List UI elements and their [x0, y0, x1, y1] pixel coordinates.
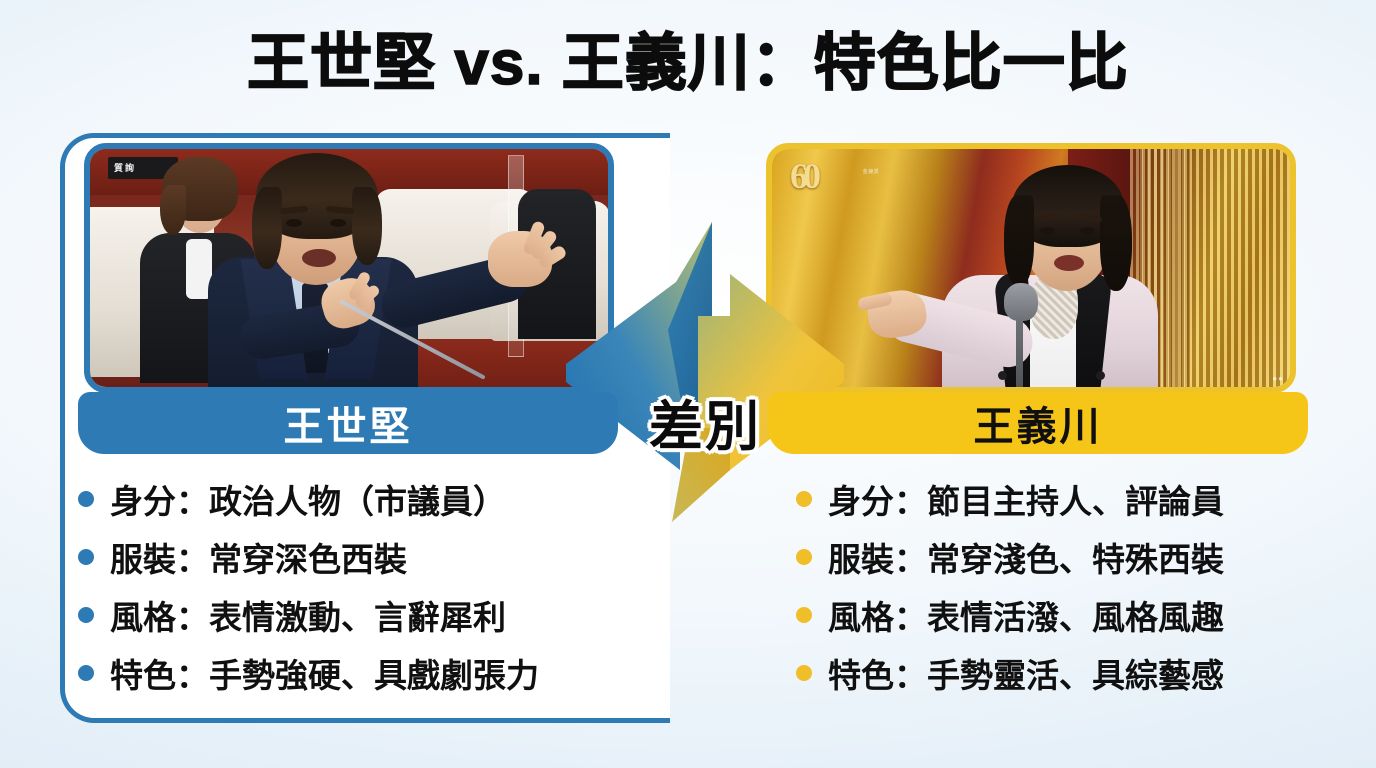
list-item: 風格：表情激動、言辭犀利 [78, 586, 658, 644]
infographic-canvas: 王世堅 vs. 王義川：特色比一比 質詢 [0, 0, 1376, 768]
name-right-text: 王義川 [974, 394, 1103, 452]
bullet-dot-icon [78, 665, 94, 681]
photo-frame-left: 質詢 [84, 143, 614, 393]
bullet-dot-icon [796, 549, 812, 565]
hair-side-left [1004, 195, 1034, 287]
bullet-dot-icon [78, 491, 94, 507]
smiling-mouth [1054, 255, 1084, 271]
bullet-dot-icon [796, 607, 812, 623]
hair-side-right [1100, 195, 1132, 291]
list-item-text: 服裝：常穿淺色、特殊西裝 [828, 533, 1224, 581]
bullet-dot-icon [78, 607, 94, 623]
list-item: 特色：手勢強硬、具戲劇張力 [78, 644, 658, 702]
microphone-stem [1016, 317, 1023, 387]
photo-frame-right: 60 金鐘獎 [766, 143, 1296, 393]
list-item-text: 服裝：常穿深色西裝 [110, 533, 407, 581]
list-item: 身分：節目主持人、評論員 [796, 470, 1376, 528]
nameplate-text: 質詢 [114, 162, 136, 174]
hair-side-left [252, 187, 282, 269]
microphone-head [1004, 283, 1038, 321]
page-title: 王世堅 vs. 王義川：特色比一比 [0, 26, 1376, 102]
wang-yi-chuan-photo: 60 金鐘獎 [772, 149, 1290, 387]
name-band-left: 王世堅 [78, 392, 618, 454]
name-left-text: 王世堅 [284, 394, 413, 452]
list-item: 風格：表情活潑、風格風趣 [796, 586, 1376, 644]
bullet-list-left: 身分：政治人物（市議員） 服裝：常穿深色西裝 風格：表情激動、言辭犀利 特色：手… [78, 470, 658, 702]
list-item: 服裝：常穿深色西裝 [78, 528, 658, 586]
list-item-text: 風格：表情激動、言辭犀利 [110, 591, 506, 639]
list-item-text: 身分：節目主持人、評論員 [828, 475, 1224, 523]
list-item-text: 特色：手勢強硬、具戲劇張力 [110, 649, 539, 697]
jacket-button-left [998, 371, 1007, 380]
list-item: 服裝：常穿淺色、特殊西裝 [796, 528, 1376, 586]
open-mouth [302, 249, 336, 267]
award-logo-sub: 金鐘獎 [846, 169, 896, 176]
wang-shih-chien-photo: 質詢 [90, 149, 608, 387]
watermark: ●● [1272, 374, 1284, 383]
list-item-text: 風格：表情活潑、風格風趣 [828, 591, 1224, 639]
list-item-text: 身分：政治人物（市議員） [110, 475, 506, 523]
list-item: 特色：手勢靈活、具綜藝感 [796, 644, 1376, 702]
jacket-button-right [1096, 371, 1105, 380]
name-band-right: 王義川 [768, 392, 1308, 454]
bullet-list-right: 身分：節目主持人、評論員 服裝：常穿淺色、特殊西裝 風格：表情活潑、風格風趣 特… [796, 470, 1376, 702]
arrow-blue-accent [668, 222, 712, 406]
hair-side-right [352, 187, 382, 265]
award-logo: 60 [790, 155, 816, 197]
bullet-dot-icon [796, 665, 812, 681]
list-item-text: 特色：手勢靈活、具綜藝感 [828, 649, 1224, 697]
list-item: 身分：政治人物（市議員） [78, 470, 658, 528]
bullet-dot-icon [78, 549, 94, 565]
bullet-dot-icon [796, 491, 812, 507]
